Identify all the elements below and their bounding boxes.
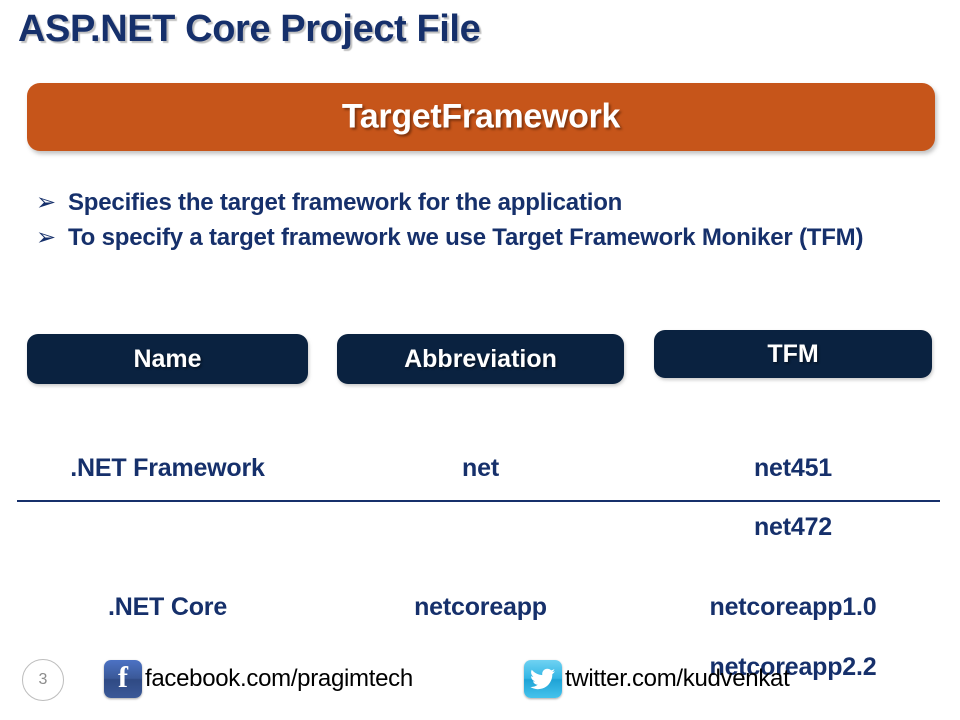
list-item: ➢ To specify a target framework we use T…: [36, 221, 926, 254]
cell-name: .NET Core: [27, 593, 308, 622]
facebook-icon: f: [104, 660, 142, 698]
cell-tfm-primary: net451: [654, 454, 932, 483]
section-banner-label: TargetFramework: [27, 98, 935, 137]
column-header-name: Name: [27, 334, 308, 384]
section-banner: TargetFramework: [27, 83, 935, 151]
cell-abbreviation: net: [337, 454, 624, 483]
cell-name: .NET Framework: [27, 454, 308, 483]
slide-number-badge: 3: [22, 659, 64, 701]
facebook-link[interactable]: f facebook.com/pragimtech: [104, 660, 413, 698]
twitter-icon: [524, 660, 562, 698]
table-header-row: Name Abbreviation TFM: [0, 330, 960, 388]
cell-tfm-primary: netcoreapp1.0: [654, 593, 932, 622]
list-item-label: To specify a target framework we use Tar…: [68, 221, 863, 254]
row-divider: [17, 500, 940, 502]
column-header-abbreviation: Abbreviation: [337, 334, 624, 384]
twitter-link-label: twitter.com/kudvenkat: [565, 665, 789, 693]
arrow-bullet-icon: ➢: [36, 186, 68, 219]
list-item: ➢ Specifies the target framework for the…: [36, 186, 926, 219]
arrow-bullet-icon: ➢: [36, 221, 68, 254]
framework-table: Name Abbreviation TFM .NET Framework net…: [0, 330, 960, 608]
column-header-tfm: TFM: [654, 330, 932, 378]
twitter-link[interactable]: twitter.com/kudvenkat: [524, 660, 789, 698]
list-item-label: Specifies the target framework for the a…: [68, 186, 622, 219]
facebook-link-label: facebook.com/pragimtech: [145, 665, 413, 693]
table-row: .NET Core netcoreapp netcoreapp1.0 netco…: [0, 498, 960, 608]
cell-abbreviation: netcoreapp: [337, 593, 624, 622]
page-title: ASP.NET Core Project File: [18, 8, 480, 51]
table-row: .NET Framework net net451 net472: [0, 388, 960, 498]
bullet-list: ➢ Specifies the target framework for the…: [36, 186, 926, 256]
